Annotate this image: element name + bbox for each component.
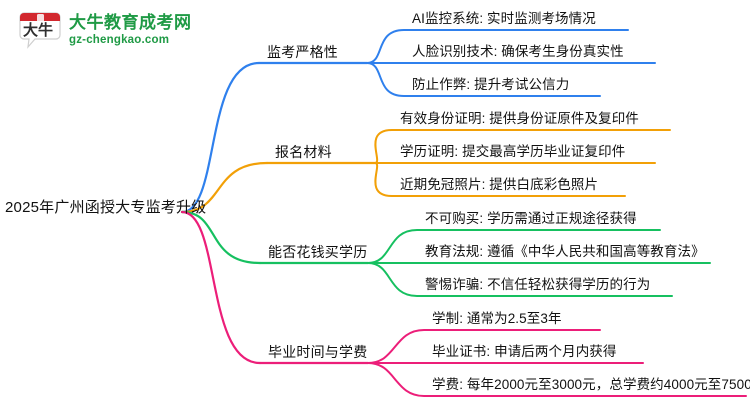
branch-4-leaf-3: 学费: 每年2000元至3000元，总学费约4000元至7500元 xyxy=(432,378,750,392)
logo-subtitle: gz-chengkao.com xyxy=(69,35,192,47)
branch-4-leaf-2: 毕业证书: 申请后两个月内获得 xyxy=(432,345,617,359)
svg-text:大牛: 大牛 xyxy=(23,21,53,39)
branch-2-label: 报名材料 xyxy=(275,145,332,159)
branch-1-label: 监考严格性 xyxy=(267,45,338,59)
site-logo: 大牛 大牛教育成考网 gz-chengkao.com xyxy=(18,10,192,50)
logo-title: 大牛教育成考网 xyxy=(69,14,192,31)
branch-2-leaf-3: 近期免冠照片: 提供白底彩色照片 xyxy=(400,178,598,192)
branch-3-leaf-1: 不可购买: 学历需通过正规途径获得 xyxy=(425,212,637,226)
daniu-speech-bubble-icon: 大牛 xyxy=(18,10,62,50)
branch-3-leaf-3: 警惕诈骗: 不信任轻松获得学历的行为 xyxy=(425,278,650,292)
branch-1-leaf-1: AI监控系统: 实时监测考场情况 xyxy=(412,12,596,26)
mindmap-root-title: 2025年广州函授大专监考升级 xyxy=(5,200,206,215)
branch-1-root-connector xyxy=(182,63,259,212)
branch-2-leaf-1: 有效身份证明: 提供身份证原件及复印件 xyxy=(400,112,639,126)
branch-3-label: 能否花钱买学历 xyxy=(268,245,367,259)
branch-3-root-connector xyxy=(182,212,260,263)
branch-2-leaf-2: 学历证明: 提交最高学历毕业证复印件 xyxy=(400,145,625,159)
branch-3-leaf-2: 教育法规: 遵循《中华人民共和国高等教育法》 xyxy=(425,245,705,259)
branch-4-root-connector xyxy=(182,212,260,363)
branch-4-label: 毕业时间与学费 xyxy=(268,345,367,359)
branch-1-leaf-2: 人脸识别技术: 确保考生身份真实性 xyxy=(412,45,624,59)
branch-4-leaf-1: 学制: 通常为2.5至3年 xyxy=(432,312,562,326)
mindmap-canvas: 大牛 大牛教育成考网 gz-chengkao.com 2025年广州函授大专监考… xyxy=(0,0,750,410)
branch-1-leaf-3: 防止作弊: 提升考试公信力 xyxy=(412,78,569,92)
